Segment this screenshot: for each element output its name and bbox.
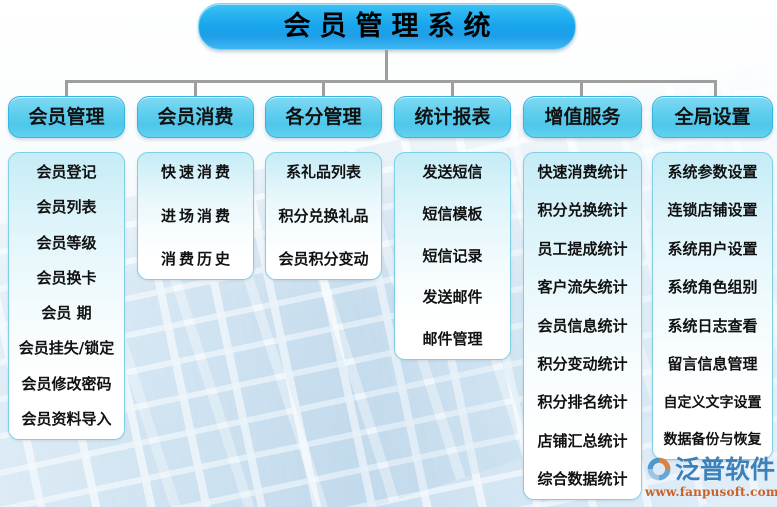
column-member-management: 会员管理 会员登记 会员列表 会员等级 会员换卡 会员 期 会员挂失/锁定 会员… (8, 96, 125, 440)
watermark-url-label: www.fanpusoft.com (645, 485, 777, 499)
menu-item[interactable]: 会员积分变动 (270, 252, 377, 267)
menu-item[interactable]: 快速消费统计 (528, 165, 637, 180)
menu-item[interactable]: 会员等级 (13, 236, 120, 251)
column-header-points-management[interactable]: 各分管理 (265, 96, 382, 138)
menu-item[interactable]: 发送邮件 (399, 290, 506, 305)
menu-item[interactable]: 自定义文字设置 (657, 396, 768, 410)
menu-item[interactable]: 积分排名统计 (528, 395, 637, 410)
menu-item[interactable]: 店铺汇总统计 (528, 434, 637, 449)
menu-item[interactable]: 数据备份与恢复 (657, 433, 768, 447)
column-global-settings: 全局设置 系统参数设置 连锁店铺设置 系统用户设置 系统角色组别 系统日志查看 … (652, 96, 773, 460)
menu-item[interactable]: 会员信息统计 (528, 319, 637, 334)
watermark-brand-label: 泛普软件 (675, 457, 775, 482)
menu-item[interactable]: 快速消费 (142, 165, 249, 180)
watermark: 泛普软件 www.fanpusoft.com (645, 455, 777, 505)
menu-item[interactable]: 积分兑换礼品 (270, 209, 377, 224)
column-body-points-management: 系礼品列表 积分兑换礼品 会员积分变动 (265, 152, 382, 280)
menu-item[interactable]: 系统参数设置 (657, 165, 768, 180)
menu-item[interactable]: 短信记录 (399, 249, 506, 264)
menu-item[interactable]: 客户流失统计 (528, 280, 637, 295)
column-statistics-reports: 统计报表 发送短信 短信模板 短信记录 发送邮件 邮件管理 (394, 96, 511, 360)
menu-item[interactable]: 员工提成统计 (528, 242, 637, 257)
menu-item[interactable]: 会员换卡 (13, 271, 120, 286)
menu-item[interactable]: 系礼品列表 (270, 165, 377, 180)
column-header-label: 各分管理 (285, 108, 361, 127)
menu-item[interactable]: 会员资料导入 (13, 412, 120, 427)
column-header-member-consumption[interactable]: 会员消费 (137, 96, 254, 138)
column-header-global-settings[interactable]: 全局设置 (652, 96, 773, 138)
column-header-statistics-reports[interactable]: 统计报表 (394, 96, 511, 138)
column-body-global-settings: 系统参数设置 连锁店铺设置 系统用户设置 系统角色组别 系统日志查看 留言信息管… (652, 152, 773, 460)
column-body-value-added-services: 快速消费统计 积分兑换统计 员工提成统计 客户流失统计 会员信息统计 积分变动统… (523, 152, 642, 500)
menu-item[interactable]: 积分变动统计 (528, 357, 637, 372)
connector-root-stem (385, 50, 388, 82)
column-body-statistics-reports: 发送短信 短信模板 短信记录 发送邮件 邮件管理 (394, 152, 511, 360)
root-node-member-management-system[interactable]: 会员管理系统 (198, 3, 576, 50)
menu-item[interactable]: 会员列表 (13, 200, 120, 215)
menu-item[interactable]: 综合数据统计 (528, 472, 637, 487)
menu-item[interactable]: 会员修改密码 (13, 377, 120, 392)
menu-item[interactable]: 连锁店铺设置 (657, 203, 768, 218)
menu-item[interactable]: 系统角色组别 (657, 280, 768, 295)
connector-horizontal-bus (65, 80, 717, 83)
menu-item[interactable]: 系统用户设置 (657, 242, 768, 257)
column-header-label: 全局设置 (674, 108, 750, 127)
column-header-label: 增值服务 (544, 108, 620, 127)
column-header-label: 会员管理 (28, 108, 104, 127)
menu-item[interactable]: 会员 期 (13, 306, 120, 321)
column-header-label: 会员消费 (157, 108, 233, 127)
menu-item[interactable]: 积分兑换统计 (528, 203, 637, 218)
column-points-management: 各分管理 系礼品列表 积分兑换礼品 会员积分变动 (265, 96, 382, 280)
menu-item[interactable]: 短信模板 (399, 207, 506, 222)
column-header-member-management[interactable]: 会员管理 (8, 96, 125, 138)
root-node-label: 会员管理系统 (275, 13, 500, 40)
menu-item[interactable]: 会员挂失/锁定 (13, 341, 120, 356)
menu-item[interactable]: 留言信息管理 (657, 357, 768, 372)
menu-item[interactable]: 会员登记 (13, 165, 120, 180)
column-value-added-services: 增值服务 快速消费统计 积分兑换统计 员工提成统计 客户流失统计 会员信息统计 … (523, 96, 642, 500)
menu-item[interactable]: 邮件管理 (399, 332, 506, 347)
menu-item[interactable]: 发送短信 (399, 165, 506, 180)
column-member-consumption: 会员消费 快速消费 进场消费 消费历史 (137, 96, 254, 280)
column-header-label: 统计报表 (414, 108, 490, 127)
column-body-member-management: 会员登记 会员列表 会员等级 会员换卡 会员 期 会员挂失/锁定 会员修改密码 … (8, 152, 125, 440)
menu-item[interactable]: 消费历史 (142, 252, 249, 267)
column-header-value-added-services[interactable]: 增值服务 (523, 96, 642, 138)
org-chart-canvas: 会员管理系统 会员管理 会员登记 会员列表 会员等级 会员换卡 会员 期 会员挂… (0, 0, 777, 507)
menu-item[interactable]: 进场消费 (142, 209, 249, 224)
menu-item[interactable]: 系统日志查看 (657, 319, 768, 334)
column-body-member-consumption: 快速消费 进场消费 消费历史 (137, 152, 254, 280)
